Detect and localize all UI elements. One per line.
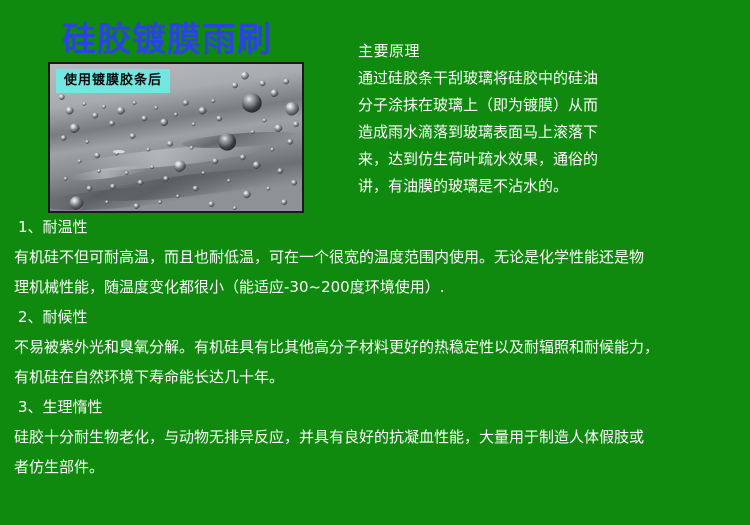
feature-block-1: 1、耐温性 有机硅不但可耐高温，而且也耐低温，可在一个很宽的温度范围内使用。无论… [0,212,750,302]
feature-line: 硅胶十分耐生物老化，与动物无排异反应，并具有良好的抗凝血性能，大量用于制造人体假… [0,422,750,452]
principle-line: 造成雨水滴落到玻璃表面马上滚落下 [358,119,750,146]
principle-line: 来，达到仿生荷叶疏水效果，通俗的 [358,146,750,173]
feature-line: 有机硅不但可耐高温，而且也耐低温，可在一个很宽的温度范围内使用。无论是化学性能还… [0,242,750,272]
feature-title: 3、生理惰性 [0,392,750,422]
page-title: 硅胶镀膜雨刷 [62,20,272,60]
principle-heading: 主要原理 [358,38,750,65]
principle-line: 讲，有油膜的玻璃是不沾水的。 [358,173,750,200]
feature-line: 有机硅在自然环境下寿命能长达几十年。 [0,362,750,392]
feature-block-2: 2、耐候性 不易被紫外光和臭氧分解。有机硅具有比其他高分子材料更好的热稳定性以及… [0,302,750,392]
features-section: 1、耐温性 有机硅不但可耐高温，而且也耐低温，可在一个很宽的温度范围内使用。无论… [0,212,750,482]
feature-block-3: 3、生理惰性 硅胶十分耐生物老化，与动物无排异反应，并具有良好的抗凝血性能，大量… [0,392,750,482]
product-photo: 使用镀膜胶条后 [48,62,304,213]
feature-line: 理机械性能，随温度变化都很小（能适应-30~200度环境使用）. [0,272,750,302]
principle-line: 分子涂抹在玻璃上（即为镀膜）从而 [358,92,750,119]
feature-title: 1、耐温性 [0,212,750,242]
principle-line: 通过硅胶条干刮玻璃将硅胶中的硅油 [358,65,750,92]
feature-line: 者仿生部件。 [0,452,750,482]
product-detail-page: 硅胶镀膜雨刷 [0,0,750,525]
principle-section: 主要原理 通过硅胶条干刮玻璃将硅胶中的硅油 分子涂抹在玻璃上（即为镀膜）从而 造… [358,38,750,200]
feature-title: 2、耐候性 [0,302,750,332]
photo-caption-badge: 使用镀膜胶条后 [56,69,170,93]
feature-line: 不易被紫外光和臭氧分解。有机硅具有比其他高分子材料更好的热稳定性以及耐辐照和耐候… [0,332,750,362]
